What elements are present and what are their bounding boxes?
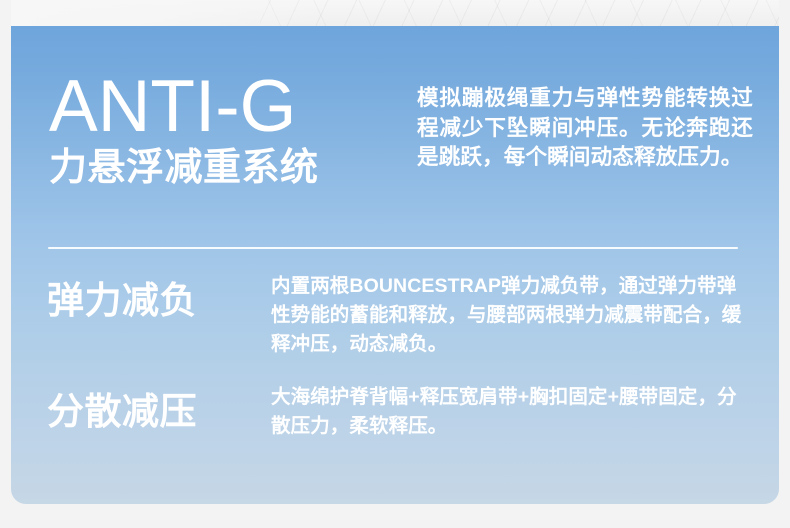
- product-feature-banner: ANTI-G 力悬浮减重系统 模拟蹦极绳重力与弹性势能转换过程减少下坠瞬间冲压。…: [0, 0, 790, 528]
- brand-subtitle: 力悬浮减重系统: [49, 147, 389, 189]
- top-texture-strip: [0, 0, 790, 27]
- header-description: 模拟蹦极绳重力与弹性势能转换过程减少下坠瞬间冲压。无论奔跑还是跳跃，每个瞬间动态…: [417, 84, 753, 173]
- brand-block: ANTI-G 力悬浮减重系统: [49, 70, 389, 189]
- feature-body: 大海绵护脊背幅+释压宽肩带+胸扣固定+腰带固定，分散压力，柔软释压。: [271, 383, 743, 441]
- feature-label: 分散减压: [47, 391, 267, 433]
- feature-body: 内置两根BOUNCESTRAP弹力减负带，通过弹力带弹性势能的蓄能和释放，与腰部…: [271, 272, 743, 359]
- header-section: ANTI-G 力悬浮减重系统 模拟蹦极绳重力与弹性势能转换过程减少下坠瞬间冲压。…: [11, 26, 779, 226]
- page-left-edge: [0, 0, 11, 27]
- feature-row: 分散减压 大海绵护脊背幅+释压宽肩带+胸扣固定+腰带固定，分散压力，柔软释压。: [11, 383, 779, 469]
- section-divider: [48, 247, 738, 249]
- brand-title: ANTI-G: [49, 70, 389, 144]
- page-right-edge: [779, 0, 790, 27]
- feature-list: 弹力减负 内置两根BOUNCESTRAP弹力减负带，通过弹力带弹性势能的蓄能和释…: [11, 272, 779, 469]
- feature-row: 弹力减负 内置两根BOUNCESTRAP弹力减负带，通过弹力带弹性势能的蓄能和释…: [11, 272, 779, 359]
- feature-label: 弹力减负: [47, 280, 267, 322]
- blue-gradient-panel: ANTI-G 力悬浮减重系统 模拟蹦极绳重力与弹性势能转换过程减少下坠瞬间冲压。…: [11, 26, 779, 504]
